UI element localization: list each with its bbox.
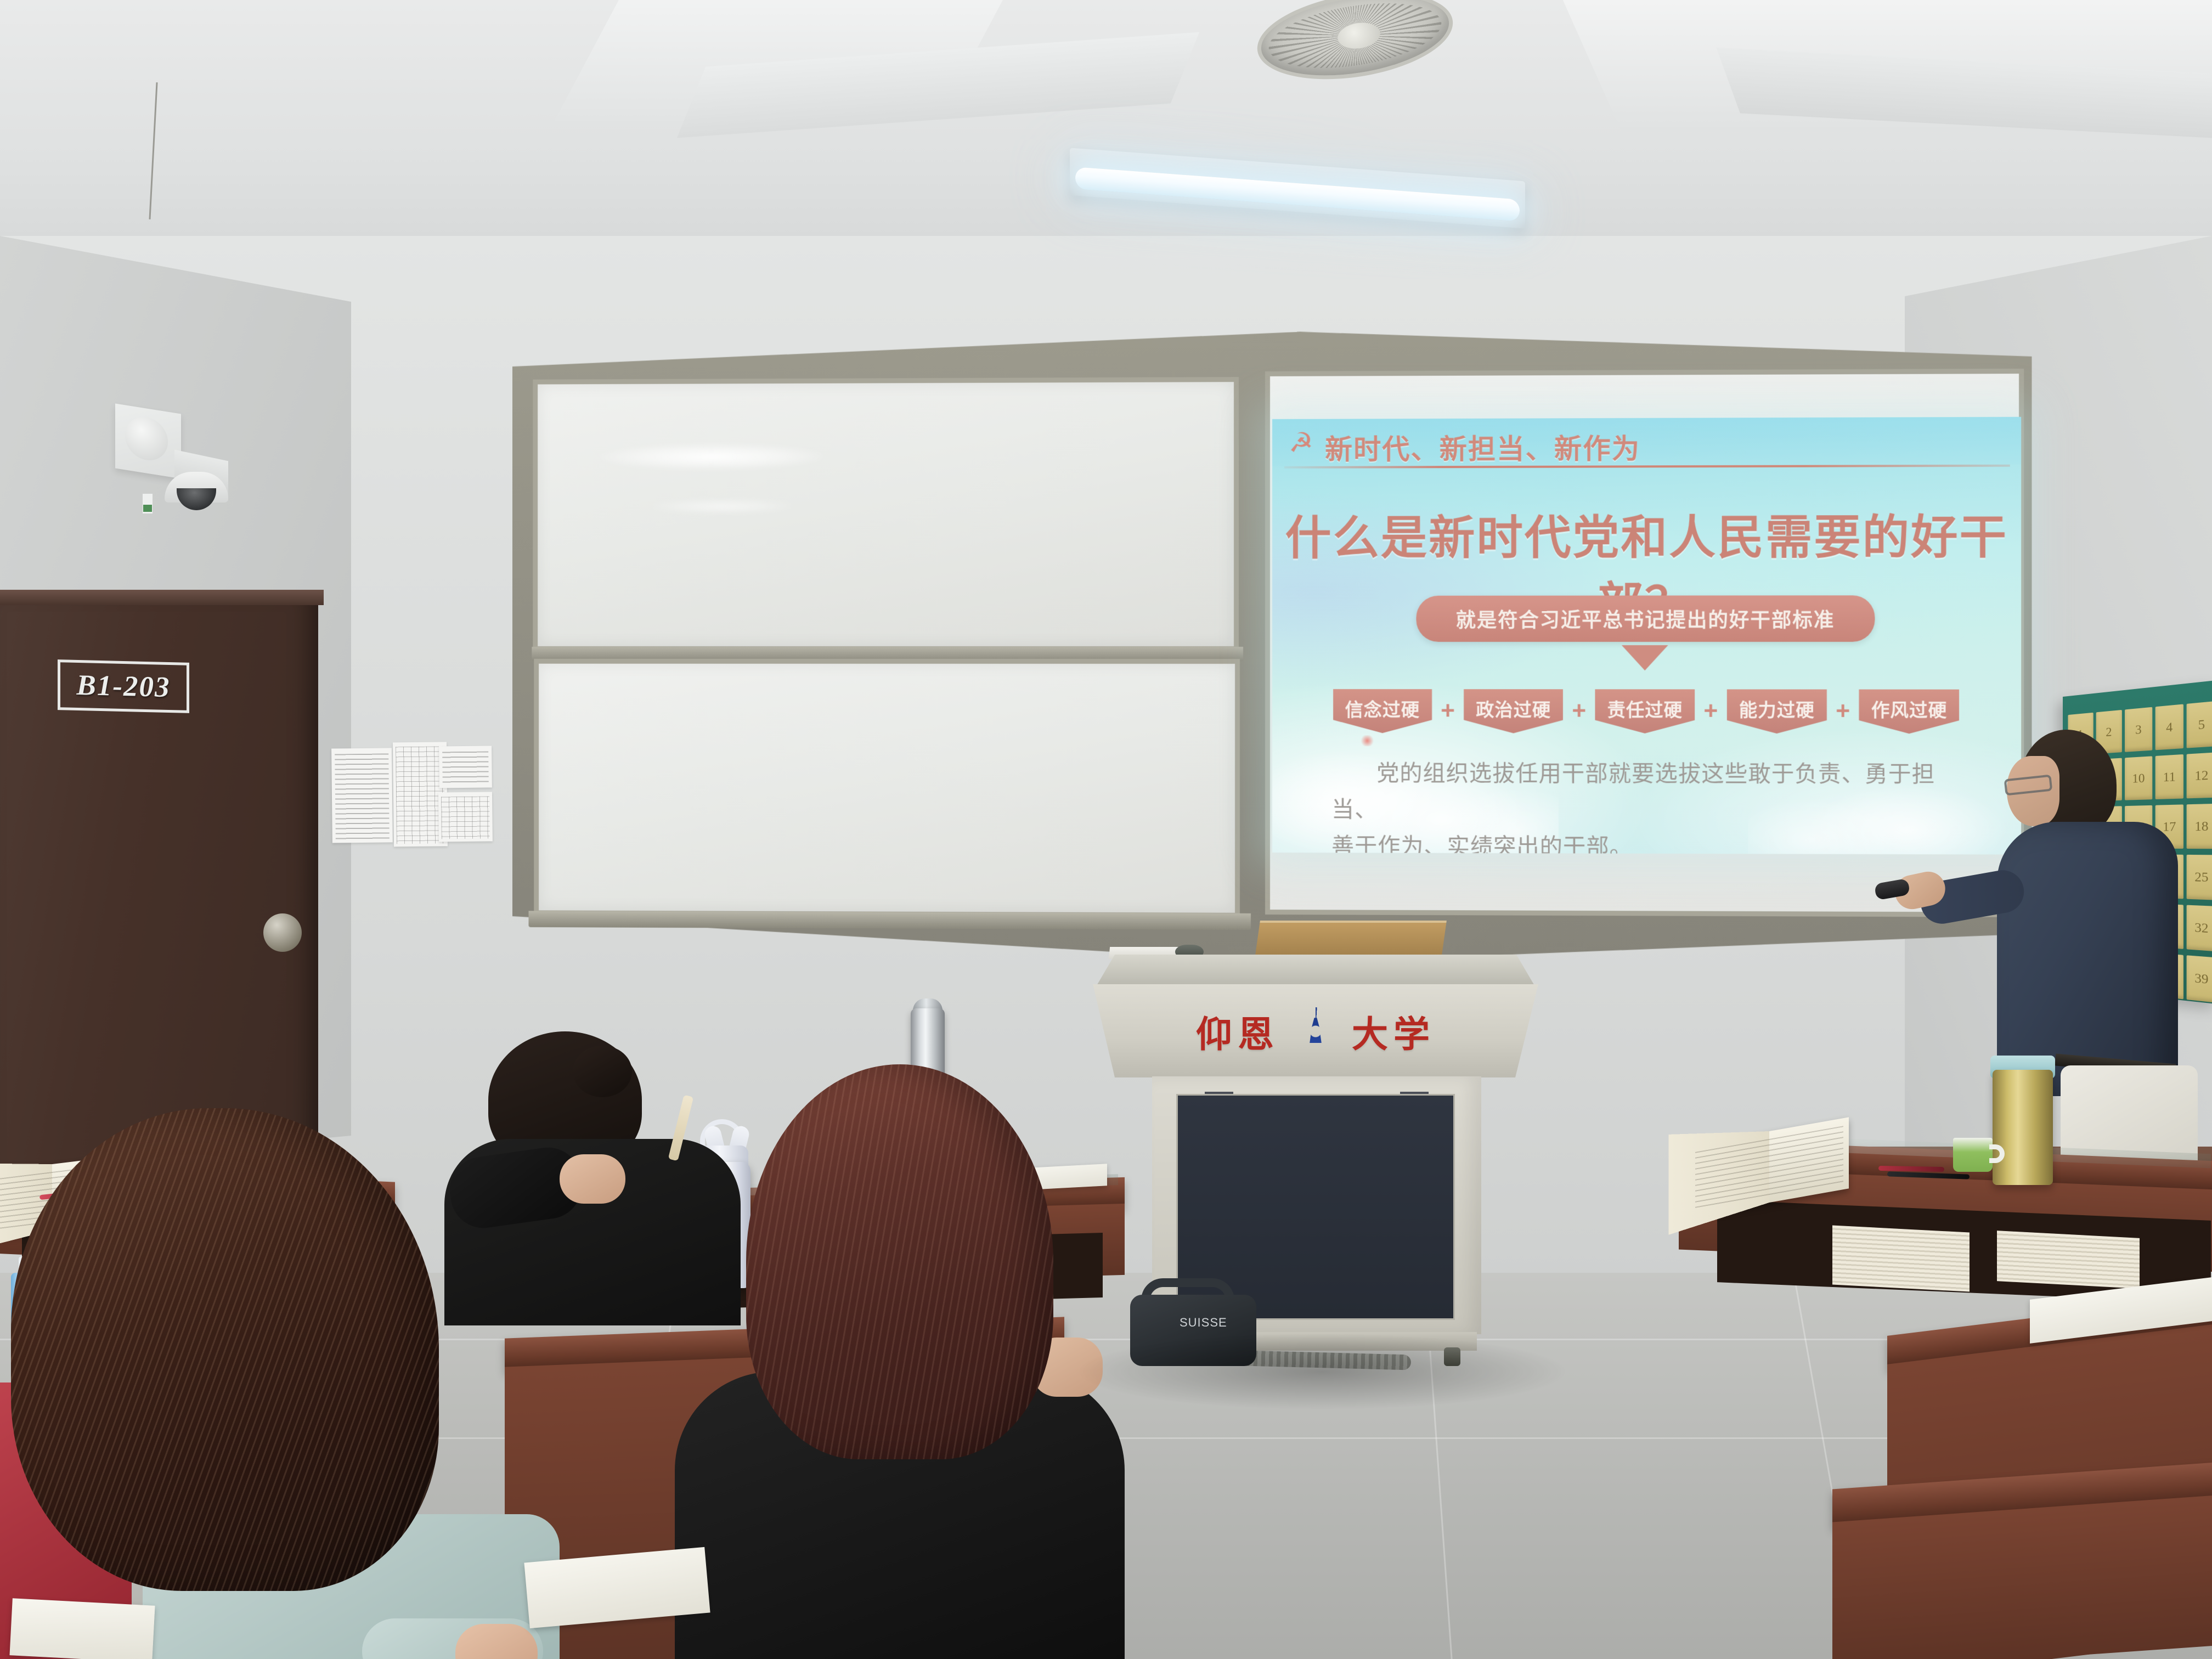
room-number-sign: B1-203	[58, 659, 189, 713]
brand-text-right: 大学	[1352, 1005, 1435, 1058]
brand-text-left: 仰恩	[1196, 1005, 1279, 1058]
university-branding: 仰恩 大学	[1093, 1005, 1538, 1058]
book-stack	[1832, 1225, 1970, 1291]
notice-grid-lines	[396, 746, 445, 844]
door-handle[interactable]	[263, 913, 302, 952]
notice-sheet	[439, 746, 492, 788]
projection-screen-panel: ☭ 新时代、新担当、新作为 什么是新时代党和人民需要的好干部？ 就是符合习近平总…	[1265, 369, 2024, 917]
whiteboard-lower-left	[534, 659, 1240, 918]
classroom-photo: B1-203	[0, 0, 2212, 1659]
sunburst-tower-logo-icon	[1291, 1007, 1340, 1056]
ceiling-fan-icon	[1256, 0, 1470, 88]
plus-sign: +	[1572, 697, 1586, 725]
logo-tower	[1307, 1018, 1324, 1043]
notice-text-lines	[335, 753, 390, 839]
notice-text-lines	[442, 752, 489, 785]
student-long-wavy-hair	[0, 1108, 527, 1659]
criteria-tag: 能力过硬	[1727, 689, 1827, 733]
podium-monitor-panel	[1255, 921, 1447, 959]
criteria-tag: 政治过硬	[1464, 689, 1563, 733]
plus-sign: +	[1441, 697, 1455, 725]
notice-sheet	[331, 748, 393, 843]
student-hand	[560, 1154, 625, 1204]
open-notebook	[9, 1598, 155, 1659]
door-header	[0, 590, 324, 605]
criteria-tag: 信念过硬	[1333, 689, 1432, 733]
student-hair	[746, 1064, 1053, 1459]
cpc-hammer-sickle-icon: ☭	[1289, 429, 1318, 458]
slide-dust-speck	[1360, 735, 1374, 746]
chevron-down-icon	[1622, 645, 1668, 670]
hair-bun	[573, 1046, 632, 1097]
tea-jar-icon	[1993, 1070, 2053, 1185]
wall-notices	[331, 737, 492, 854]
projected-slide: ☭ 新时代、新担当、新作为 什么是新时代党和人民需要的好干部？ 就是符合习近平总…	[1272, 417, 2021, 855]
student-auburn-hair	[653, 1064, 1147, 1659]
podium-desktop	[1096, 955, 1535, 986]
book-stack	[1997, 1231, 2140, 1289]
camera-tag	[143, 494, 153, 513]
whiteboard-assembly: ☭ 新时代、新担当、新作为 什么是新时代党和人民需要的好干部？ 就是符合习近平总…	[512, 329, 2032, 966]
podium-shadow	[1075, 1333, 1569, 1410]
slide-body-line-2: 善于作为、实绩突出的干部。	[1331, 828, 1974, 855]
smoke-detector-icon	[115, 403, 181, 478]
student-hair	[11, 1108, 439, 1591]
student-hand	[455, 1624, 538, 1659]
plus-sign: +	[1836, 698, 1850, 725]
notice-grid-lines	[441, 797, 490, 839]
criteria-tag: 责任过硬	[1595, 689, 1695, 733]
slide-criteria-row: 信念过硬 + 政治过硬 + 责任过硬 + 能力过硬 + 作风过硬	[1272, 689, 2021, 734]
notice-sheet	[438, 792, 493, 842]
plus-sign: +	[1703, 698, 1718, 725]
whiteboard-glare	[652, 499, 792, 513]
room-number-label: B1-203	[77, 669, 171, 704]
slide-kicker-text: 新时代、新担当、新作为	[1325, 427, 1640, 467]
criteria-tag: 作风过硬	[1859, 690, 1959, 734]
slide-body-line-1: 党的组织选拔任用干部就要选拔这些敢于负责、勇于担当、	[1331, 760, 1935, 822]
whiteboard-upper-left	[533, 377, 1239, 651]
slide-pill-banner: 就是符合习近平总书记提出的好干部标准	[1416, 595, 1875, 642]
backpack-brand-label: SUISSE	[1180, 1316, 1227, 1330]
whiteboard-marker-tray	[528, 911, 1251, 930]
slide-body-text: 党的组织选拔任用干部就要选拔这些敢于负责、勇于担当、 善于作为、实绩突出的干部。	[1331, 755, 1974, 855]
board-inner-area: ☭ 新时代、新担当、新作为 什么是新时代党和人民需要的好干部？ 就是符合习近平总…	[522, 338, 2022, 956]
whiteboard-glare	[598, 443, 825, 470]
instructor-shirt	[1997, 822, 2178, 1096]
student-desk-body	[1832, 1496, 2212, 1659]
green-mug-icon	[1953, 1138, 1993, 1172]
